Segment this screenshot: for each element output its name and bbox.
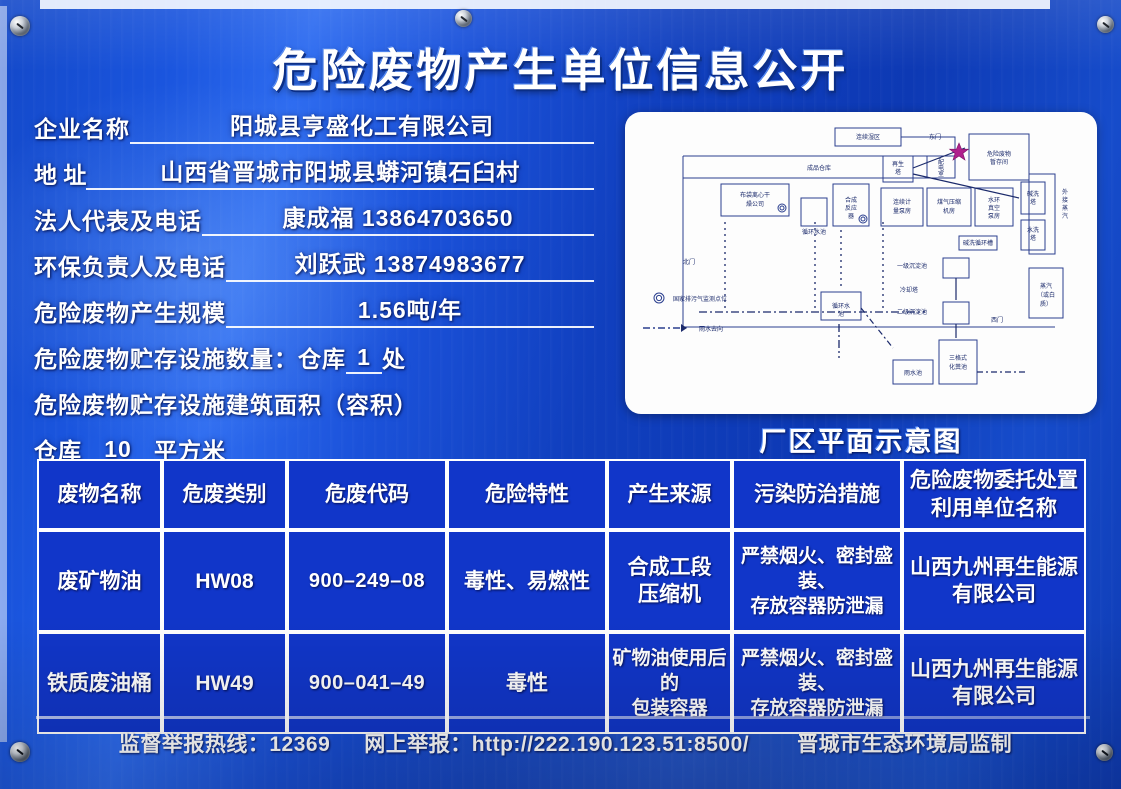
- svg-text:冷却塔: 冷却塔: [900, 286, 918, 294]
- cell-waste-name: 废矿物油: [37, 530, 162, 632]
- cell-measures-line1: 严禁烟火、密封盛装、: [737, 646, 897, 696]
- facility-count-value: 1: [346, 344, 382, 374]
- footer-organization: 晋城市生态环境局监制: [797, 728, 1012, 758]
- info-row-scale: 危险废物产生规模 1.56吨/年: [34, 294, 594, 328]
- svg-text:水环: 水环: [988, 196, 1000, 204]
- company-label: 企业名称: [34, 110, 130, 144]
- cell-handler: 山西九州再生能源 有限公司: [902, 632, 1086, 734]
- svg-text:化粪池: 化粪池: [949, 363, 967, 371]
- scale-value: 1.56吨/年: [226, 291, 594, 328]
- header-waste-name: 废物名称: [37, 459, 162, 530]
- page-title: 危险废物产生单位信息公开: [0, 34, 1121, 99]
- site-plan-caption: 厂区平面示意图: [625, 420, 1097, 459]
- info-row-env-officer: 环保负责人及电话 刘跃武 13874983677: [34, 248, 594, 282]
- cell-source: 矿物油使用后的 包装容器: [607, 632, 732, 734]
- cell-waste-code: 900–249–08: [287, 530, 447, 632]
- svg-text:合成: 合成: [845, 196, 857, 204]
- env-officer-label: 环保负责人及电话: [34, 248, 226, 282]
- header-handler-line2: 利用单位名称: [907, 495, 1081, 523]
- svg-text:泵房: 泵房: [988, 212, 1000, 220]
- header-measures: 污染防治措施: [732, 459, 902, 530]
- svg-text:塔: 塔: [1030, 198, 1036, 206]
- svg-text:反应: 反应: [845, 204, 857, 212]
- cell-hazard-property: 毒性、易燃性: [447, 530, 607, 632]
- plate-divider: [36, 716, 1090, 719]
- cell-source: 合成工段 压缩机: [607, 530, 732, 632]
- footer-hotline: 监督举报热线：12369: [119, 728, 330, 758]
- info-row-legal-rep: 法人代表及电话 康成福 13864703650: [34, 202, 594, 236]
- table-row: 铁质废油桶 HW49 900–041–49 毒性 矿物油使用后的 包装容器 严禁…: [37, 632, 1086, 734]
- cell-handler-line2: 有限公司: [907, 581, 1081, 609]
- svg-text:塔: 塔: [895, 168, 901, 176]
- cell-handler-line1: 山西九州再生能源: [907, 554, 1081, 582]
- header-hazard-property: 危险特性: [447, 459, 607, 530]
- cell-measures-line2: 存放容器防泄漏: [737, 594, 897, 619]
- cell-waste-category: HW08: [162, 530, 287, 632]
- cell-source-line1: 矿物油使用后的: [612, 646, 727, 696]
- svg-text:西门: 西门: [991, 316, 1003, 324]
- mounting-bolt-icon: [10, 16, 30, 36]
- table-header-row: 废物名称 危废类别 危废代码 危险特性 产生来源 污染防治措施 危险废物委托处置…: [37, 459, 1086, 530]
- svg-text:（或白: （或白: [1037, 291, 1055, 299]
- svg-text:循环水池: 循环水池: [802, 228, 826, 236]
- hazardous-waste-table: 废物名称 危废类别 危废代码 危险特性 产生来源 污染防治措施 危险废物委托处置…: [37, 459, 1086, 734]
- svg-text:蒸: 蒸: [1062, 204, 1068, 212]
- facility-count-prefix: 危险废物贮存设施数量：仓库: [34, 340, 346, 374]
- footer-online-report: 网上举报：http://222.190.123.51:8500/: [364, 728, 749, 758]
- info-row-address: 地 址 山西省晋城市阳城县蟒河镇石臼村: [34, 156, 594, 190]
- header-waste-category: 危废类别: [162, 459, 287, 530]
- cell-waste-category: HW49: [162, 632, 287, 734]
- scale-label: 危险废物产生规模: [34, 294, 226, 328]
- svg-text:碱洗: 碱洗: [1027, 190, 1039, 198]
- cell-measures-line1: 严禁烟火、密封盛装、: [737, 544, 897, 594]
- svg-text:池: 池: [838, 310, 844, 318]
- svg-text:再生: 再生: [892, 160, 904, 168]
- svg-text:碱洗循环槽: 碱洗循环槽: [963, 239, 993, 247]
- facility-area-label: 危险废物贮存设施建筑面积（容积）: [34, 386, 418, 420]
- cell-handler: 山西九州再生能源 有限公司: [902, 530, 1086, 632]
- svg-text:接: 接: [1062, 196, 1068, 204]
- mounting-bolt-icon: [455, 10, 472, 27]
- plate-rim-left: [0, 6, 7, 742]
- information-disclosure-board: 危险废物产生单位信息公开 企业名称 阳城县亨盛化工有限公司 地 址 山西省晋城市…: [0, 0, 1121, 789]
- svg-text:真空: 真空: [988, 204, 1000, 212]
- svg-text:循环水: 循环水: [832, 302, 850, 310]
- company-value: 阳城县亨盛化工有限公司: [130, 107, 594, 144]
- header-handler-line1: 危险废物委托处置: [907, 467, 1081, 495]
- site-plan-container: 成品仓库 配电室 连续湿区 东门 危险废物 暂存间 布袋离心干 燥公司 循环水池…: [625, 112, 1097, 414]
- svg-text:二级沉淀池: 二级沉淀池: [897, 308, 927, 316]
- svg-text:塔: 塔: [1030, 234, 1036, 242]
- svg-text:质）: 质）: [1040, 300, 1052, 308]
- svg-text:煤气压缩: 煤气压缩: [937, 198, 961, 206]
- info-row-facility-area-label: 危险废物贮存设施建筑面积（容积）: [34, 386, 594, 420]
- legal-rep-value: 康成福 13864703650: [202, 199, 594, 236]
- info-row-facility-count: 危险废物贮存设施数量：仓库 1 处: [34, 340, 594, 374]
- footer-bar: 监督举报热线：12369 网上举报：http://222.190.123.51:…: [0, 728, 1121, 758]
- svg-text:三格式: 三格式: [949, 354, 967, 362]
- svg-text:器: 器: [848, 213, 854, 220]
- svg-text:量泵房: 量泵房: [893, 207, 911, 215]
- svg-text:外: 外: [1062, 188, 1068, 196]
- svg-text:雨水池: 雨水池: [904, 369, 922, 377]
- site-plan-image: 成品仓库 配电室 连续湿区 东门 危险废物 暂存间 布袋离心干 燥公司 循环水池…: [625, 112, 1097, 414]
- svg-text:机房: 机房: [943, 207, 955, 215]
- svg-text:汽: 汽: [1062, 212, 1068, 220]
- header-source: 产生来源: [607, 459, 732, 530]
- cell-hazard-property: 毒性: [447, 632, 607, 734]
- cell-handler-line1: 山西九州再生能源: [907, 656, 1081, 684]
- svg-text:危险废物: 危险废物: [987, 150, 1011, 158]
- svg-text:室: 室: [938, 170, 944, 178]
- cell-handler-line2: 有限公司: [907, 683, 1081, 711]
- cell-measures: 严禁烟火、密封盛装、 存放容器防泄漏: [732, 530, 902, 632]
- mounting-bolt-icon: [1097, 16, 1114, 33]
- svg-text:一级沉淀池: 一级沉淀池: [897, 262, 927, 270]
- cell-measures: 严禁烟火、密封盛装、 存放容器防泄漏: [732, 632, 902, 734]
- svg-text:东门: 东门: [929, 133, 941, 141]
- cell-source-line1: 合成工段: [612, 554, 727, 582]
- cell-source-line2: 压缩机: [612, 581, 727, 609]
- svg-text:电: 电: [938, 164, 944, 172]
- svg-text:暂存间: 暂存间: [990, 158, 1008, 166]
- info-row-company: 企业名称 阳城县亨盛化工有限公司: [34, 110, 594, 144]
- address-value: 山西省晋城市阳城县蟒河镇石臼村: [86, 153, 594, 190]
- plate-rim-top: [40, 0, 1050, 9]
- header-waste-code: 危废代码: [287, 459, 447, 530]
- address-label: 地 址: [34, 156, 86, 190]
- svg-text:燥公司: 燥公司: [746, 200, 764, 208]
- cell-waste-code: 900–041–49: [287, 632, 447, 734]
- header-handler: 危险废物委托处置 利用单位名称: [902, 459, 1086, 530]
- table-row: 废矿物油 HW08 900–249–08 毒性、易燃性 合成工段 压缩机 严禁烟…: [37, 530, 1086, 632]
- svg-text:成品仓库: 成品仓库: [807, 164, 831, 172]
- svg-text:连续湿区: 连续湿区: [856, 133, 880, 141]
- cell-waste-name: 铁质废油桶: [37, 632, 162, 734]
- env-officer-value: 刘跃武 13874983677: [226, 245, 594, 282]
- svg-text:国家排污气监测点位: 国家排污气监测点位: [673, 295, 727, 303]
- svg-text:连续计: 连续计: [893, 198, 911, 206]
- svg-text:布袋离心干: 布袋离心干: [740, 191, 770, 199]
- legal-rep-label: 法人代表及电话: [34, 202, 202, 236]
- svg-text:北门: 北门: [683, 258, 695, 266]
- svg-text:水洗: 水洗: [1027, 226, 1039, 234]
- svg-text:雨水去向: 雨水去向: [699, 325, 723, 333]
- svg-text:蒸汽: 蒸汽: [1040, 282, 1052, 290]
- company-info-block: 企业名称 阳城县亨盛化工有限公司 地 址 山西省晋城市阳城县蟒河镇石臼村 法人代…: [34, 110, 594, 478]
- facility-count-suffix: 处: [382, 340, 406, 374]
- svg-text:配: 配: [938, 159, 944, 166]
